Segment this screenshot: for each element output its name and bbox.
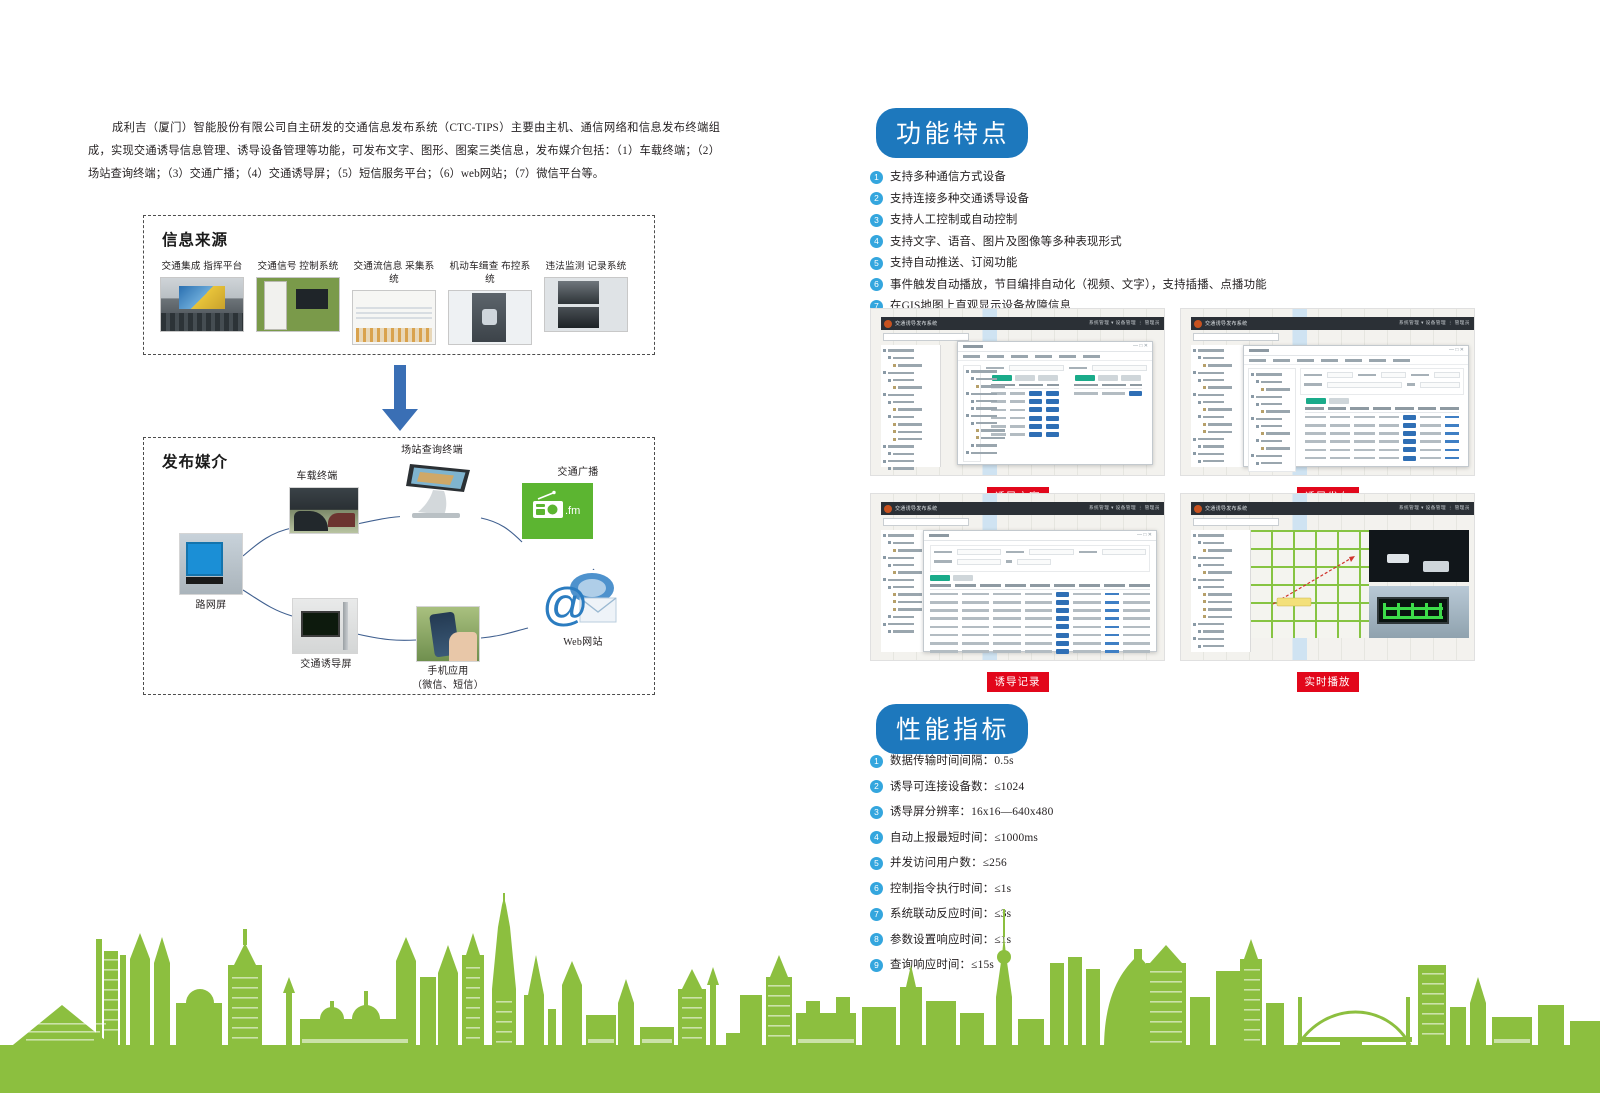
app-menu: 系统管理 ▾ 设备管理 ⋮ 管理员 <box>1089 505 1160 511</box>
source-item-traffic-flow: 交通流信息 采集系统 <box>352 260 436 345</box>
app-titlebar: 交通诱导发布系统 系统管理 ▾ 设备管理 ⋮ 管理员 <box>1191 502 1474 515</box>
bullet-number-5: 5 <box>870 257 883 270</box>
dialog-body <box>958 361 1152 466</box>
bullet-number-4: 4 <box>870 235 883 248</box>
specs-section-badge: 性能指标 <box>876 704 1028 754</box>
app-window: 交通诱导发布系统 系统管理 ▾ 设备管理 ⋮ 管理员 — □ ✕ <box>871 309 1164 475</box>
media-label-in-vehicle: 车载终端 <box>274 470 360 484</box>
search-input[interactable] <box>1193 518 1279 526</box>
dialog-tabs[interactable] <box>958 352 1152 361</box>
app-logo-icon <box>884 505 892 513</box>
bullet-number-2: 2 <box>870 192 883 205</box>
dialog-tree[interactable] <box>1248 368 1296 472</box>
device-tree[interactable] <box>1191 345 1251 467</box>
email-at-icon: @ <box>540 570 622 634</box>
list-item: 3诱导屏分辨率：16x16—640x480 <box>870 803 1470 821</box>
bullet-number-3: 3 <box>870 214 883 227</box>
city-skyline-silhouette <box>0 893 1600 1093</box>
traffic-guidance-screen-image <box>292 598 358 654</box>
source-item-traffic-command: 交通集成 指挥平台 <box>160 260 244 345</box>
program-panel <box>1069 365 1147 462</box>
app-titlebar: 交通诱导发布系统 系统管理 ▾ 设备管理 ⋮ 管理员 <box>881 502 1164 515</box>
app-title: 交通诱导发布系统 <box>1205 320 1247 327</box>
app-window: 交通诱导发布系统 系统管理 ▾ 设备管理 ⋮ 管理员 — □ ✕ <box>871 494 1164 660</box>
media-diagram: 路网屏 车载终端 场站查询终端 交通广播 <box>144 438 656 696</box>
signal-control-thumb <box>256 277 340 332</box>
source-label: 违法监测 记录系统 <box>544 260 628 273</box>
app-logo-icon <box>884 320 892 328</box>
feature-text: 支持人工控制或自动控制 <box>890 211 1018 229</box>
media-label-station-kiosk: 场站查询终端 <box>380 444 484 458</box>
dialog-titlebar: — □ ✕ <box>924 531 1156 541</box>
bullet-number-1: 1 <box>870 171 883 184</box>
bullet-number-1: 1 <box>870 755 883 768</box>
bullet-number-6: 6 <box>870 278 883 291</box>
vehicle-check-thumb <box>448 290 532 345</box>
publish-dialog[interactable]: — □ ✕ <box>1243 345 1469 467</box>
bullet-number-2: 2 <box>870 780 883 793</box>
source-label: 交通流信息 采集系统 <box>352 260 436 286</box>
record-dialog[interactable]: — □ ✕ <box>923 530 1157 652</box>
media-label-mobile-app: 手机应用 （微信、短信） <box>402 665 494 692</box>
screenshot-image-record: 交通诱导发布系统 系统管理 ▾ 设备管理 ⋮ 管理员 — □ ✕ <box>870 493 1165 661</box>
spec-text: 诱导可连接设备数：≤1024 <box>890 778 1024 796</box>
traffic-flow-thumb <box>352 290 436 345</box>
traffic-green-map[interactable] <box>1251 530 1369 638</box>
app-logo-icon <box>1194 505 1202 513</box>
list-item: 5支持自动推送、订阅功能 <box>870 254 1510 272</box>
bullet-number-3: 3 <box>870 806 883 819</box>
features-list: 1支持多种通信方式设备 2支持连接多种交通诱导设备 3支持人工控制或自动控制 4… <box>870 168 1510 319</box>
video-feed[interactable] <box>1369 530 1469 582</box>
device-tree[interactable] <box>881 345 941 467</box>
information-sources-box: 信息来源 交通集成 指挥平台 交通信号 控制系统 交通流信息 采集系统 机动车缉… <box>143 215 655 355</box>
search-input[interactable] <box>883 518 969 526</box>
list-item: 4自动上报最短时间：≤1000ms <box>870 829 1470 847</box>
caption-wrap: 诱导记录 <box>870 672 1165 692</box>
feature-text: 支持自动推送、订阅功能 <box>890 254 1018 272</box>
dialog-titlebar: — □ ✕ <box>958 342 1152 352</box>
route-overlay <box>1251 530 1369 638</box>
screenshot-cell-live[interactable]: 交通诱导发布系统 系统管理 ▾ 设备管理 ⋮ 管理员 <box>1180 493 1475 692</box>
dialog-titlebar: — □ ✕ <box>1244 346 1468 356</box>
sources-box-title: 信息来源 <box>162 228 228 250</box>
list-item: 5并发访问用户数：≤256 <box>870 854 1470 872</box>
source-item-violation-record: 违法监测 记录系统 <box>544 260 628 345</box>
station-kiosk-image <box>400 460 476 522</box>
app-title: 交通诱导发布系统 <box>895 505 937 512</box>
vms-screen-photo[interactable] <box>1369 586 1469 638</box>
source-item-vehicle-check: 机动车缉查 布控系统 <box>448 260 532 345</box>
media-label-guidance-screen: 交通诱导屏 <box>284 658 368 672</box>
control-room-thumb <box>160 277 244 332</box>
dialog-body <box>924 541 1156 661</box>
search-input[interactable] <box>1193 333 1279 341</box>
app-window: 交通诱导发布系统 系统管理 ▾ 设备管理 ⋮ 管理员 — □ ✕ <box>1181 309 1474 475</box>
screenshot-caption: 诱导记录 <box>987 672 1049 692</box>
app-title: 交通诱导发布系统 <box>895 320 937 327</box>
app-menu: 系统管理 ▾ 设备管理 ⋮ 管理员 <box>1399 505 1470 511</box>
spec-text: 诱导屏分辨率：16x16—640x480 <box>890 803 1053 821</box>
feature-text: 支持多种通信方式设备 <box>890 168 1006 186</box>
media-label-road-network: 路网屏 <box>171 599 251 613</box>
source-label: 交通集成 指挥平台 <box>160 260 244 273</box>
device-tree[interactable] <box>1191 530 1251 652</box>
query-and-table <box>1300 368 1464 472</box>
list-item: 6事件触发自动播放，节目编排自动化（视频、文字），支持插播、点播功能 <box>870 276 1510 294</box>
screenshot-cell-plan[interactable]: 交通诱导发布系统 系统管理 ▾ 设备管理 ⋮ 管理员 — □ ✕ <box>870 308 1165 507</box>
intro-paragraph: 成利吉（厦门）智能股份有限公司自主研发的交通信息发布系统（CTC-TIPS）主要… <box>88 117 720 186</box>
app-menu: 系统管理 ▾ 设备管理 ⋮ 管理员 <box>1089 320 1160 326</box>
feature-text: 支持文字、语音、图片及图像等多种表现形式 <box>890 233 1122 251</box>
media-label-website: Web网站 <box>540 636 626 650</box>
screenshot-image-publish: 交通诱导发布系统 系统管理 ▾ 设备管理 ⋮ 管理员 — □ ✕ <box>1180 308 1475 476</box>
caption-wrap: 实时播放 <box>1180 672 1475 692</box>
plan-dialog[interactable]: — □ ✕ <box>957 341 1153 465</box>
publishing-media-box: 发布媒介 路网屏 车载终端 场站查询终端 <box>143 437 655 695</box>
source-label: 交通信号 控制系统 <box>256 260 340 273</box>
source-label: 机动车缉查 布控系统 <box>448 260 532 286</box>
app-titlebar: 交通诱导发布系统 系统管理 ▾ 设备管理 ⋮ 管理员 <box>1191 317 1474 330</box>
road-network-screen-image <box>179 533 243 595</box>
list-item: 1支持多种通信方式设备 <box>870 168 1510 186</box>
dialog-tabs[interactable] <box>1244 356 1468 365</box>
screenshot-cell-record[interactable]: 交通诱导发布系统 系统管理 ▾ 设备管理 ⋮ 管理员 — □ ✕ <box>870 493 1165 692</box>
app-title: 交通诱导发布系统 <box>1205 505 1247 512</box>
app-window: 交通诱导发布系统 系统管理 ▾ 设备管理 ⋮ 管理员 <box>1181 494 1474 660</box>
media-label-radio: 交通广播 <box>534 466 622 480</box>
features-section-badge: 功能特点 <box>876 108 1028 158</box>
screenshot-image-live: 交通诱导发布系统 系统管理 ▾ 设备管理 ⋮ 管理员 <box>1180 493 1475 661</box>
list-item: 4支持文字、语音、图片及图像等多种表现形式 <box>870 233 1510 251</box>
down-arrow-icon <box>381 365 419 431</box>
screenshot-cell-publish[interactable]: 交通诱导发布系统 系统管理 ▾ 设备管理 ⋮ 管理员 — □ ✕ <box>1180 308 1475 507</box>
source-item-signal-control: 交通信号 控制系统 <box>256 260 340 345</box>
radio-fm-icon: .fm <box>522 483 593 539</box>
list-item: 1数据传输时间间隔：0.5s <box>870 752 1470 770</box>
scheme-panel <box>986 365 1064 462</box>
dialog-tree[interactable] <box>963 365 981 462</box>
in-vehicle-terminal-image <box>289 487 359 534</box>
spec-text: 数据传输时间间隔：0.5s <box>890 752 1014 770</box>
violation-record-thumb <box>544 277 628 332</box>
mobile-app-image <box>416 606 480 662</box>
bullet-number-5: 5 <box>870 857 883 870</box>
dialog-body <box>1244 365 1468 475</box>
svg-text:.fm: .fm <box>565 505 580 517</box>
spec-text: 自动上报最短时间：≤1000ms <box>890 829 1038 847</box>
app-logo-icon <box>1194 320 1202 328</box>
screenshot-caption: 实时播放 <box>1297 672 1359 692</box>
sources-row: 交通集成 指挥平台 交通信号 控制系统 交通流信息 采集系统 机动车缉查 布控系… <box>160 260 646 345</box>
list-item: 2支持连接多种交通诱导设备 <box>870 190 1510 208</box>
spec-text: 并发访问用户数：≤256 <box>890 854 1007 872</box>
list-item: 3支持人工控制或自动控制 <box>870 211 1510 229</box>
list-item: 2诱导可连接设备数：≤1024 <box>870 778 1470 796</box>
search-input[interactable] <box>883 333 969 341</box>
app-menu: 系统管理 ▾ 设备管理 ⋮ 管理员 <box>1399 320 1470 326</box>
feature-text: 支持连接多种交通诱导设备 <box>890 190 1029 208</box>
app-titlebar: 交通诱导发布系统 系统管理 ▾ 设备管理 ⋮ 管理员 <box>881 317 1164 330</box>
screenshot-image-plan: 交通诱导发布系统 系统管理 ▾ 设备管理 ⋮ 管理员 — □ ✕ <box>870 308 1165 476</box>
feature-text: 事件触发自动播放，节目编排自动化（视频、文字），支持插播、点播功能 <box>890 276 1267 294</box>
bullet-number-4: 4 <box>870 831 883 844</box>
svg-text:@: @ <box>542 578 589 630</box>
